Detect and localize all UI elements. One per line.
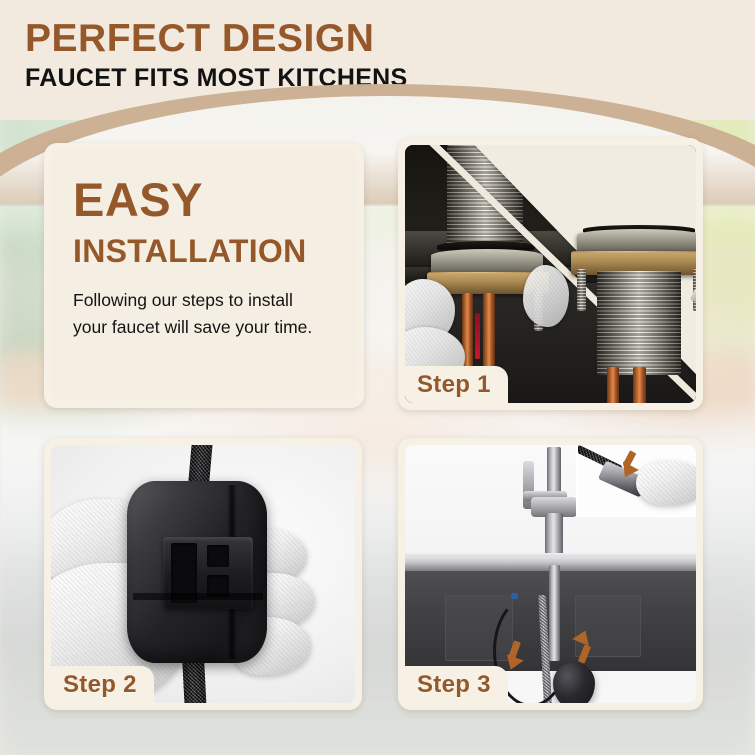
step-1-label: Step 1 (417, 371, 491, 399)
step-3-photo: Step 3 (405, 445, 696, 703)
body-copy-line-2: your faucet will save your time. (73, 314, 335, 341)
body-copy: Following our steps to install your fauc… (73, 287, 335, 340)
faucet-shank-right (597, 271, 681, 375)
step-2-label: Step 2 (63, 671, 137, 699)
infographic-page: PERFECT DESIGN FAUCET FITS MOST KITCHENS… (0, 0, 755, 755)
step-2-photo: Step 2 (51, 445, 355, 703)
hose-blue-clip (511, 593, 518, 599)
easy-installation-card-inner: EASY INSTALLATION Following our steps to… (51, 150, 357, 401)
red-marker-line (475, 313, 480, 359)
step-2-label-tab: Step 2 (51, 666, 154, 703)
inset-gloved-hand (636, 461, 696, 505)
spray-head-inset (576, 445, 696, 517)
step-1-card: Step 1 (398, 138, 703, 410)
step-3-label: Step 3 (417, 671, 491, 699)
body-copy-line-1: Following our steps to install (73, 287, 335, 314)
copper-supply-tube-right-1 (607, 367, 619, 403)
step-1-label-tab: Step 1 (405, 366, 508, 403)
hose-weight-slot-right-1 (207, 545, 229, 567)
step-2-card: Step 2 (44, 438, 362, 710)
easy-installation-card: EASY INSTALLATION Following our steps to… (44, 143, 364, 408)
step-3-card: Step 3 (398, 438, 703, 710)
hose-weight-installed (553, 663, 595, 703)
step-1-photo: Step 1 (405, 145, 696, 403)
heading-installation: INSTALLATION (73, 235, 335, 267)
step-3-label-tab: Step 3 (405, 666, 508, 703)
copper-supply-tube-right-2 (633, 367, 646, 403)
faucet-base-column (545, 513, 563, 557)
page-title: PERFECT DESIGN (25, 17, 374, 61)
mounting-screw-right-1 (577, 269, 586, 311)
gloved-hand-left-3 (523, 265, 569, 327)
copper-supply-tube-left-2 (483, 293, 495, 371)
heading-easy: EASY (73, 176, 335, 223)
hose-weight-lower-seam (133, 593, 263, 600)
